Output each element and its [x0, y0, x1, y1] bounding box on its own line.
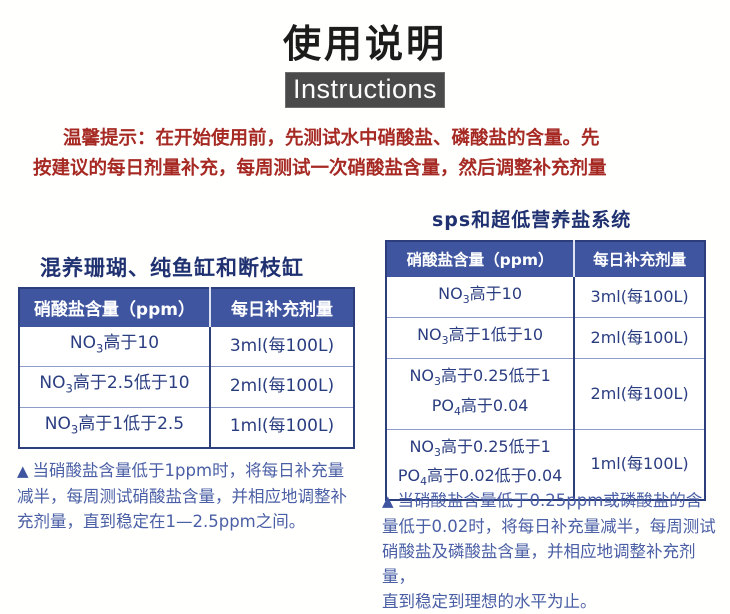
right-row-1-condition: NO3高于10 [386, 277, 574, 318]
left-table-body: NO3高于10 3ml(每100L) NO3高于2.5低于10 2ml(每100… [19, 327, 354, 448]
table-row: NO3高于2.5低于10 2ml(每100L) [19, 367, 354, 407]
page-title-cn: 使用说明 [0, 22, 730, 66]
right-table-body: NO3高于10 3ml(每100L) NO3高于1低于10 2ml(每100L)… [386, 277, 705, 500]
warning-note: 温馨提示：在开始使用前，先测试水中硝酸盐、磷酸盐的含量。先 按建议的每日剂量补充… [33, 124, 705, 184]
left-table-header-dose: 每日补充剂量 [210, 288, 354, 327]
left-row-1-condition: NO3高于10 [19, 327, 210, 367]
triangle-icon: ▲ [17, 462, 29, 480]
right-row-2-condition: NO3高于1低于10 [386, 318, 574, 359]
left-row-1-dose: 3ml(每100L) [210, 327, 354, 367]
right-footnote-line-3: 硝酸盐及磷酸盐含量，并相应地调整补充剂量， [382, 539, 727, 589]
table-row: NO3高于1低于10 2ml(每100L) [386, 318, 705, 359]
page-title-en-bar: Instructions [285, 72, 445, 108]
triangle-icon: ▲ [382, 492, 394, 510]
warning-note-line-2: 按建议的每日剂量补充，每周测试一次硝酸盐含量，然后调整补充剂量 [33, 154, 705, 184]
left-footnote: ▲当硝酸盐含量低于1ppm时，将每日补充量 减半，每周测试硝酸盐含量，并相应地调… [17, 458, 362, 534]
right-dosing-table: 硝酸盐含量（ppm） 每日补充剂量 NO3高于10 3ml(每100L) NO3… [385, 240, 706, 501]
table-header-row: 硝酸盐含量（ppm） 每日补充剂量 [386, 241, 705, 277]
left-dosing-table: 硝酸盐含量（ppm） 每日补充剂量 NO3高于10 3ml(每100L) NO3… [18, 287, 355, 449]
left-table-header-condition: 硝酸盐含量（ppm） [19, 288, 210, 327]
left-footnote-line-2: 减半，每周测试硝酸盐含量，并相应地调整补 [17, 484, 362, 509]
left-footnote-line-3: 充剂量，直到稳定在1—2.5ppm之间。 [17, 509, 362, 534]
left-row-2-condition: NO3高于2.5低于10 [19, 367, 210, 407]
right-row-3-condition: NO3高于0.25低于1PO4高于0.04 [386, 359, 574, 429]
table-row: NO3高于10 3ml(每100L) [386, 277, 705, 318]
right-footnote-text-1: 当硝酸盐含量低于0.25ppm或磷酸盐的含 [398, 491, 703, 510]
right-table-title: sps和超低营养盐系统 [432, 205, 631, 232]
right-footnote-line-2: 量低于0.02时，将每日补充量减半，每周测试 [382, 514, 727, 539]
table-row: NO3高于1低于2.5 1ml(每100L) [19, 407, 354, 448]
table-row: NO3高于10 3ml(每100L) [19, 327, 354, 367]
left-row-2-dose: 2ml(每100L) [210, 367, 354, 407]
left-row-3-dose: 1ml(每100L) [210, 407, 354, 448]
right-row-3-dose: 2ml(每100L) [574, 359, 705, 429]
left-table-title: 混养珊瑚、纯鱼缸和断枝缸 [40, 252, 304, 282]
right-row-1-dose: 3ml(每100L) [574, 277, 705, 318]
right-footnote-line-4: 直到稳定到理想的水平为止。 [382, 589, 727, 614]
left-row-3-condition: NO3高于1低于2.5 [19, 407, 210, 448]
page-title-en: Instructions [293, 74, 437, 104]
table-header-row: 硝酸盐含量（ppm） 每日补充剂量 [19, 288, 354, 327]
right-footnote: ▲当硝酸盐含量低于0.25ppm或磷酸盐的含 量低于0.02时，将每日补充量减半… [382, 488, 727, 614]
left-footnote-text-1: 当硝酸盐含量低于1ppm时，将每日补充量 [33, 461, 345, 480]
right-row-2-dose: 2ml(每100L) [574, 318, 705, 359]
page-header: 使用说明 Instructions [0, 22, 730, 108]
left-footnote-line-1: ▲当硝酸盐含量低于1ppm时，将每日补充量 [17, 458, 362, 484]
table-row: NO3高于0.25低于1PO4高于0.04 2ml(每100L) [386, 359, 705, 429]
right-table-header-condition: 硝酸盐含量（ppm） [386, 241, 574, 277]
right-footnote-line-1: ▲当硝酸盐含量低于0.25ppm或磷酸盐的含 [382, 488, 727, 514]
right-table-header-dose: 每日补充剂量 [574, 241, 705, 277]
warning-note-line-1: 温馨提示：在开始使用前，先测试水中硝酸盐、磷酸盐的含量。先 [33, 124, 705, 154]
